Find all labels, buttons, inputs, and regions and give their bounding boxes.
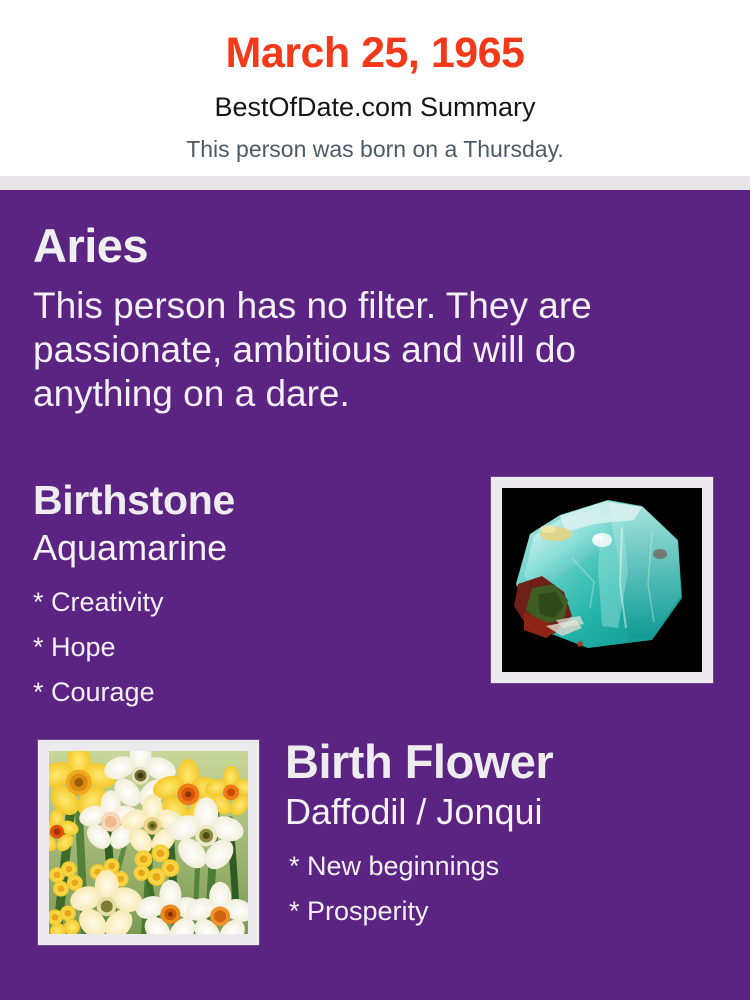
list-item: * New beginnings [289,844,735,889]
list-item: * Prosperity [289,889,735,934]
list-item: * Creativity [33,580,473,625]
header-divider [0,176,750,190]
birthstone-heading: Birthstone [33,480,473,521]
birthstone-traits: * Creativity * Hope * Courage [33,580,473,715]
summary-card: March 25, 1965 BestOfDate.com Summary Th… [0,0,750,1000]
zodiac-sign-title: Aries [33,222,693,269]
birthflower-name: Daffodil / Jonqui [285,794,735,830]
header: March 25, 1965 BestOfDate.com Summary Th… [0,0,750,176]
list-item: * Hope [33,625,473,670]
weekday-note: This person was born on a Thursday. [0,121,750,161]
birthflower-image-frame [38,740,259,945]
birthflower-traits: * New beginnings * Prosperity [285,844,735,934]
birthstone-image-frame [491,477,713,683]
birthflower-heading: Birth Flower [285,738,735,785]
aquamarine-crystal-image [502,488,702,672]
zodiac-description: This person has no filter. They are pass… [33,284,658,416]
page-title-date: March 25, 1965 [0,0,750,75]
site-name: BestOfDate.com Summary [0,75,750,121]
birthflower-section: Birth Flower Daffodil / Jonqui * New beg… [285,738,735,934]
list-item: * Courage [33,670,473,715]
zodiac-section: Aries This person has no filter. They ar… [33,222,693,416]
daffodil-field-image [49,751,248,934]
birthstone-section: Birthstone Aquamarine * Creativity * Hop… [33,480,473,715]
birthstone-name: Aquamarine [33,530,473,566]
